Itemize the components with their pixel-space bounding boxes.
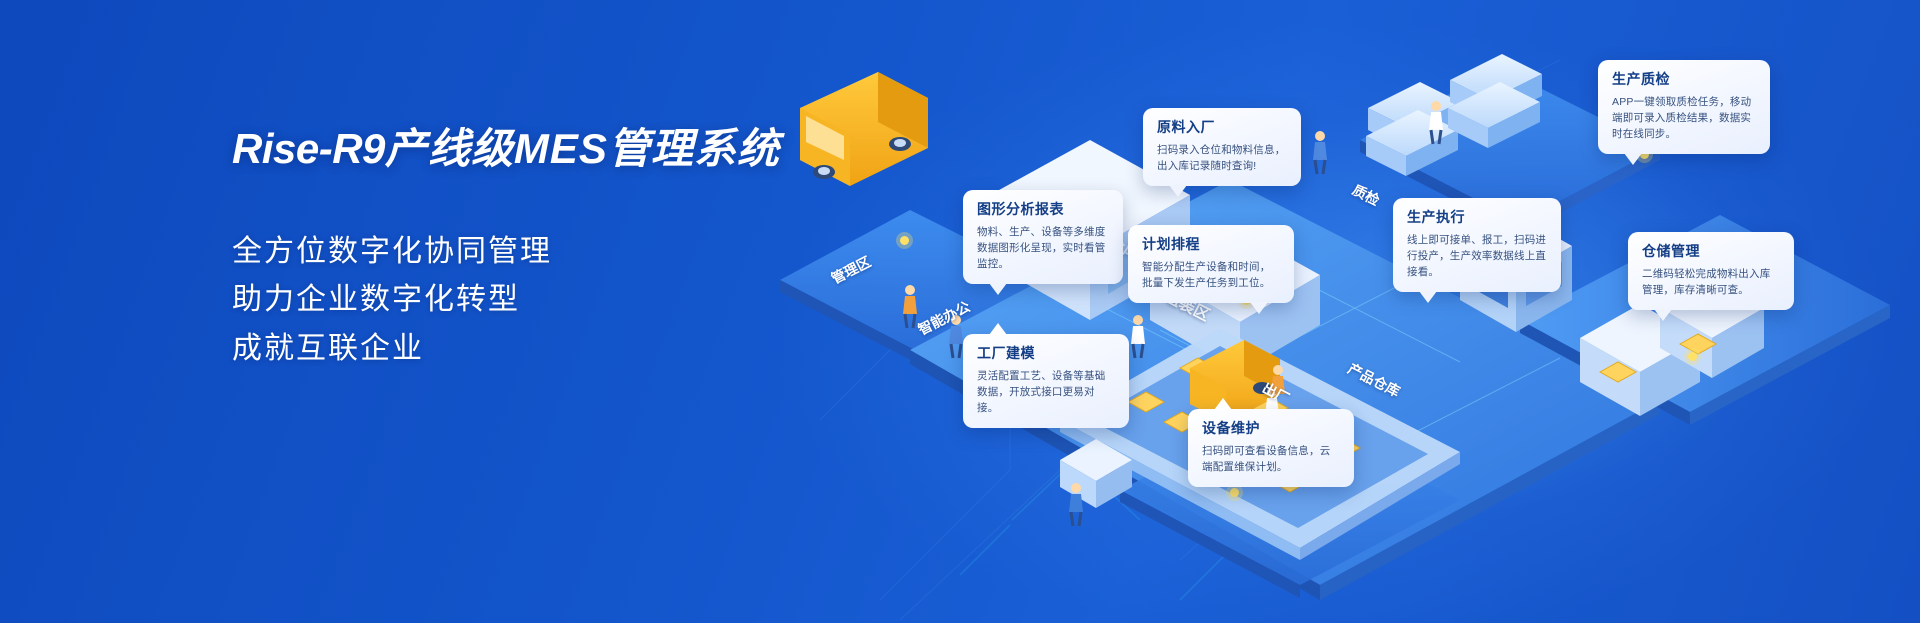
- card-description: 灵活配置工艺、设备等基础数据，开放式接口更易对接。: [977, 368, 1115, 417]
- card-title: 图形分析报表: [977, 201, 1109, 219]
- callout-card-production-execution[interactable]: 生产执行 线上即可接单、报工，扫码进行投产，生产效率数据线上直接看。: [1393, 198, 1561, 292]
- subtitle-line-2: 助力企业数字化转型: [232, 276, 852, 325]
- card-pointer-tail: [1250, 302, 1268, 314]
- callout-card-production-quality-inspection[interactable]: 生产质检 APP一键领取质检任务，移动端即可录入质检结果，数据实时在线同步。: [1598, 60, 1770, 154]
- card-description: 物料、生产、设备等多维度数据图形化呈现，实时看管监控。: [977, 224, 1109, 273]
- card-description: 扫码即可查看设备信息，云端配置维保计划。: [1202, 443, 1340, 476]
- card-title: 设备维护: [1202, 420, 1340, 438]
- card-title: 原料入厂: [1157, 119, 1287, 137]
- card-pointer-tail: [989, 283, 1007, 295]
- hero-subtitle: 全方位数字化协同管理 助力企业数字化转型 成就互联企业: [232, 228, 852, 374]
- card-pointer-tail: [1214, 398, 1232, 410]
- card-title: 工厂建模: [977, 345, 1115, 363]
- card-description: APP一键领取质检任务，移动端即可录入质检结果，数据实时在线同步。: [1612, 94, 1756, 143]
- card-title: 生产质检: [1612, 71, 1756, 89]
- card-description: 二维码轻松完成物料出入库管理，库存清晰可查。: [1642, 266, 1780, 299]
- card-pointer-tail: [1654, 309, 1672, 321]
- card-pointer-tail: [989, 323, 1007, 335]
- title-product-name: Rise-R9: [232, 125, 385, 172]
- subtitle-line-3: 成就互联企业: [232, 325, 852, 374]
- card-pointer-tail: [1169, 185, 1187, 197]
- card-pointer-tail: [1624, 153, 1642, 165]
- card-title: 生产执行: [1407, 209, 1547, 227]
- callout-card-raw-material-inbound[interactable]: 原料入厂 扫码录入仓位和物料信息，出入库记录随时查询!: [1143, 108, 1301, 186]
- card-title: 计划排程: [1142, 236, 1280, 254]
- card-pointer-tail: [1419, 291, 1437, 303]
- callout-card-plan-scheduling[interactable]: 计划排程 智能分配生产设备和时间，批量下发生产任务到工位。: [1128, 225, 1294, 303]
- mes-promo-banner: Rise-R9产线级MES管理系统 全方位数字化协同管理 助力企业数字化转型 成…: [0, 0, 1920, 623]
- page-title: Rise-R9产线级MES管理系统: [232, 124, 852, 174]
- callout-card-warehouse-management[interactable]: 仓储管理 二维码轻松完成物料出入库管理，库存清晰可查。: [1628, 232, 1794, 310]
- title-chinese: 产线级MES管理系统: [385, 125, 780, 172]
- callout-card-factory-modeling[interactable]: 工厂建模 灵活配置工艺、设备等基础数据，开放式接口更易对接。: [963, 334, 1129, 428]
- card-description: 扫码录入仓位和物料信息，出入库记录随时查询!: [1157, 142, 1287, 175]
- subtitle-line-1: 全方位数字化协同管理: [232, 228, 852, 277]
- callout-card-equipment-maintenance[interactable]: 设备维护 扫码即可查看设备信息，云端配置维保计划。: [1188, 409, 1354, 487]
- card-description: 智能分配生产设备和时间，批量下发生产任务到工位。: [1142, 259, 1280, 292]
- card-title: 仓储管理: [1642, 243, 1780, 261]
- hero-copy: Rise-R9产线级MES管理系统 全方位数字化协同管理 助力企业数字化转型 成…: [232, 124, 852, 373]
- card-description: 线上即可接单、报工，扫码进行投产，生产效率数据线上直接看。: [1407, 232, 1547, 281]
- delivery-truck-icon: [800, 72, 928, 186]
- callout-card-graphic-analysis-report[interactable]: 图形分析报表 物料、生产、设备等多维度数据图形化呈现，实时看管监控。: [963, 190, 1123, 284]
